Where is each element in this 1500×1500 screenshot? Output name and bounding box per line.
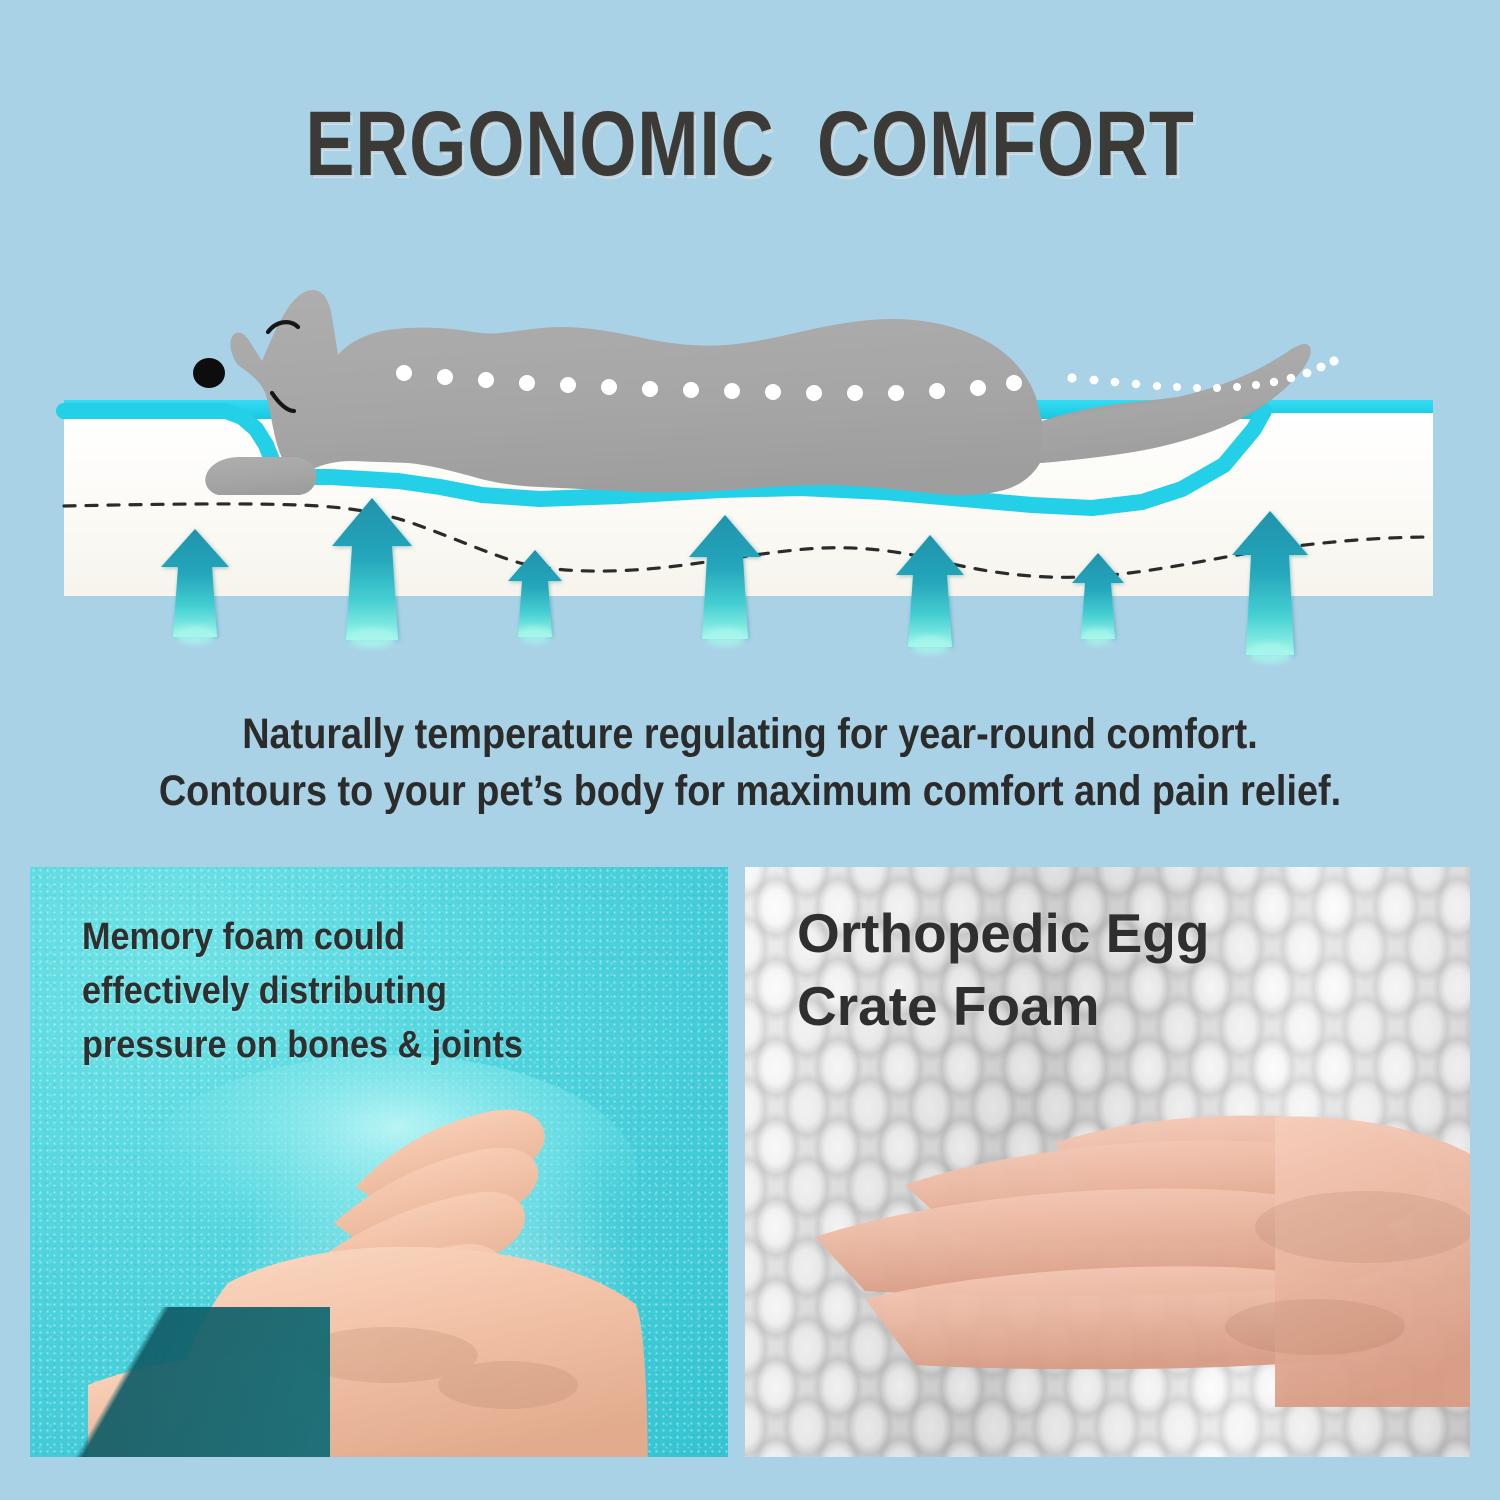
caption-line: Memory foam could [82, 910, 523, 964]
dog-front-paw [205, 457, 316, 495]
subcopy-line-2: Contours to your pet’s body for maximum … [90, 763, 1410, 820]
dog-nose [193, 358, 225, 388]
caption-line: Crate Foam [797, 970, 1210, 1043]
arrow-glow-tips [174, 626, 1293, 663]
subcopy-line-1: Naturally temperature regulating for yea… [90, 706, 1410, 763]
panel-egg-crate-foam: Orthopedic Egg Crate Foam [745, 867, 1470, 1457]
panel-caption-memory-foam: Memory foam could effectively distributi… [82, 910, 523, 1072]
hand-pressing-egg-crate-image [755, 1077, 1470, 1407]
caption-line: pressure on bones & joints [82, 1018, 523, 1072]
panel-memory-foam: Memory foam could effectively distributi… [30, 867, 728, 1457]
memory-foam-edge-shadow [30, 1307, 330, 1457]
subcopy-block: Naturally temperature regulating for yea… [90, 706, 1410, 820]
panel-caption-egg-crate: Orthopedic Egg Crate Foam [797, 897, 1210, 1043]
infographic-canvas: ERGONOMIC COMFORT [0, 0, 1500, 1500]
page-title: ERGONOMIC COMFORT [150, 92, 1350, 197]
caption-line: Orthopedic Egg [797, 897, 1210, 970]
pet-on-mattress-diagram [0, 215, 1500, 685]
caption-line: effectively distributing [82, 964, 523, 1018]
